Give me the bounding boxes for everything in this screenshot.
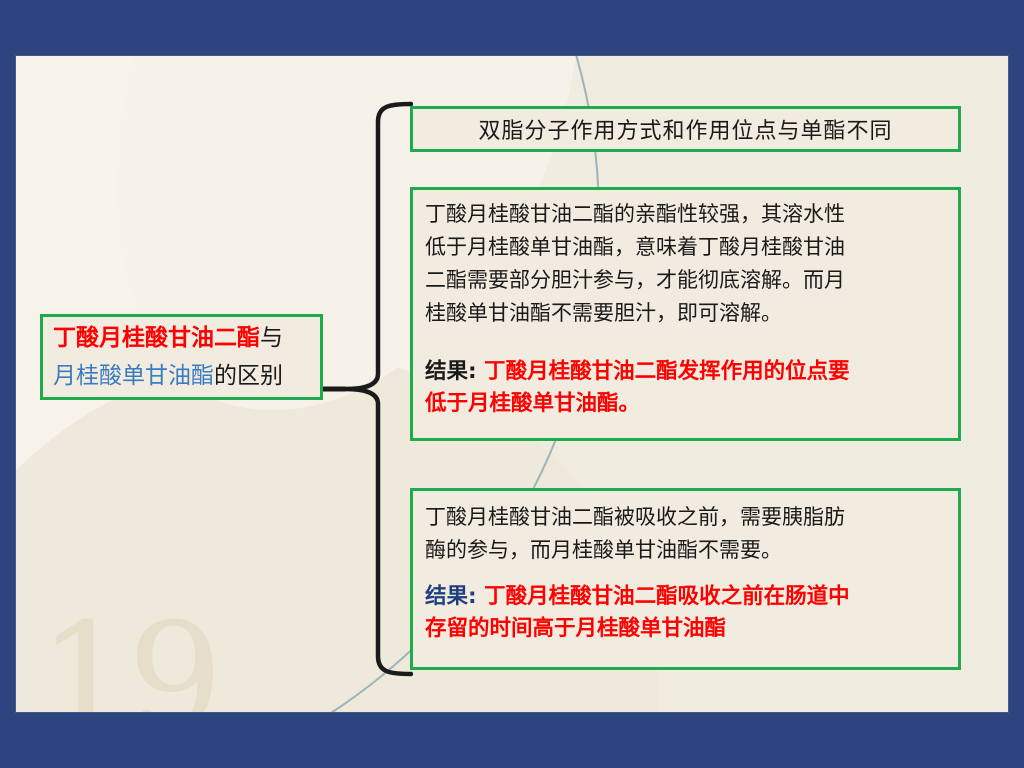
branch-bottom-body-line: 酶的参与，而月桂酸单甘油酯不需要。 xyxy=(425,534,946,567)
branch-box-middle[interactable]: 丁酸月桂酸甘油二酯的亲酯性较强，其溶水性 低于月桂酸单甘油酯，意味着丁酸月桂酸甘… xyxy=(410,187,961,441)
root-node-box[interactable]: 丁酸月桂酸甘油二酯与 月桂酸单甘油酯的区别 xyxy=(40,314,323,400)
branch-top-title: 双脂分子作用方式和作用位点与单酯不同 xyxy=(478,113,892,145)
root-node-text-red: 丁酸月桂酸甘油二酯 xyxy=(53,325,260,351)
content-layer: 丁酸月桂酸甘油二酯与 月桂酸单甘油酯的区别 双脂分子作用方式和作用位点与单酯不同 xyxy=(16,56,1008,712)
branch-middle-body-line: 二酯需要部分胆汁参与，才能彻底溶解。而月 xyxy=(425,264,946,297)
slide-frame: 19 丁酸月桂酸甘油二酯与 月桂酸单甘油酯的区别 双 xyxy=(0,0,1024,768)
root-node-text-conjunction: 与 xyxy=(260,325,283,351)
spacer xyxy=(425,567,946,581)
branch-middle-result-label: 结果: xyxy=(425,359,477,384)
branch-middle-body-line: 低于月桂酸单甘油酯，意味着丁酸月桂酸甘油 xyxy=(425,231,946,264)
branch-bottom-result-line: 结果: 丁酸月桂酸甘油二酯吸收之前在肠道中 xyxy=(425,581,946,613)
branch-bottom-result-text: 存留的时间高于月桂酸单甘油酯 xyxy=(425,616,726,641)
branch-middle-result-line: 结果: 丁酸月桂酸甘油二酯发挥作用的位点要 xyxy=(425,356,946,388)
curly-brace-connector-icon xyxy=(323,100,413,678)
branch-bottom-result-line: 存留的时间高于月桂酸单甘油酯 xyxy=(425,613,946,645)
branch-middle-result-line: 低于月桂酸单甘油酯。 xyxy=(425,388,946,420)
branch-middle-result-text: 低于月桂酸单甘油酯。 xyxy=(425,391,640,416)
root-node-text-blue: 月桂酸单甘油酯 xyxy=(53,363,214,389)
branch-box-bottom[interactable]: 丁酸月桂酸甘油二酯被吸收之前，需要胰脂肪 酶的参与，而月桂酸单甘油酯不需要。 结… xyxy=(410,488,961,670)
root-node-line-1: 丁酸月桂酸甘油二酯与 xyxy=(53,319,310,357)
slide-canvas: 19 丁酸月桂酸甘油二酯与 月桂酸单甘油酯的区别 双 xyxy=(16,56,1008,712)
branch-middle-result-text: 丁酸月桂酸甘油二酯发挥作用的位点要 xyxy=(484,359,850,384)
root-node-text-suffix: 的区别 xyxy=(214,363,283,389)
spacer xyxy=(425,330,946,356)
branch-middle-body-line: 桂酸单甘油酯不需要胆汁，即可溶解。 xyxy=(425,297,946,330)
root-node-line-2: 月桂酸单甘油酯的区别 xyxy=(53,357,310,395)
branch-bottom-body-line: 丁酸月桂酸甘油二酯被吸收之前，需要胰脂肪 xyxy=(425,501,946,534)
branch-bottom-result-label: 结果: xyxy=(425,584,477,609)
branch-middle-body-line: 丁酸月桂酸甘油二酯的亲酯性较强，其溶水性 xyxy=(425,198,946,231)
branch-box-top[interactable]: 双脂分子作用方式和作用位点与单酯不同 xyxy=(410,106,961,152)
branch-bottom-result-text: 丁酸月桂酸甘油二酯吸收之前在肠道中 xyxy=(484,584,850,609)
